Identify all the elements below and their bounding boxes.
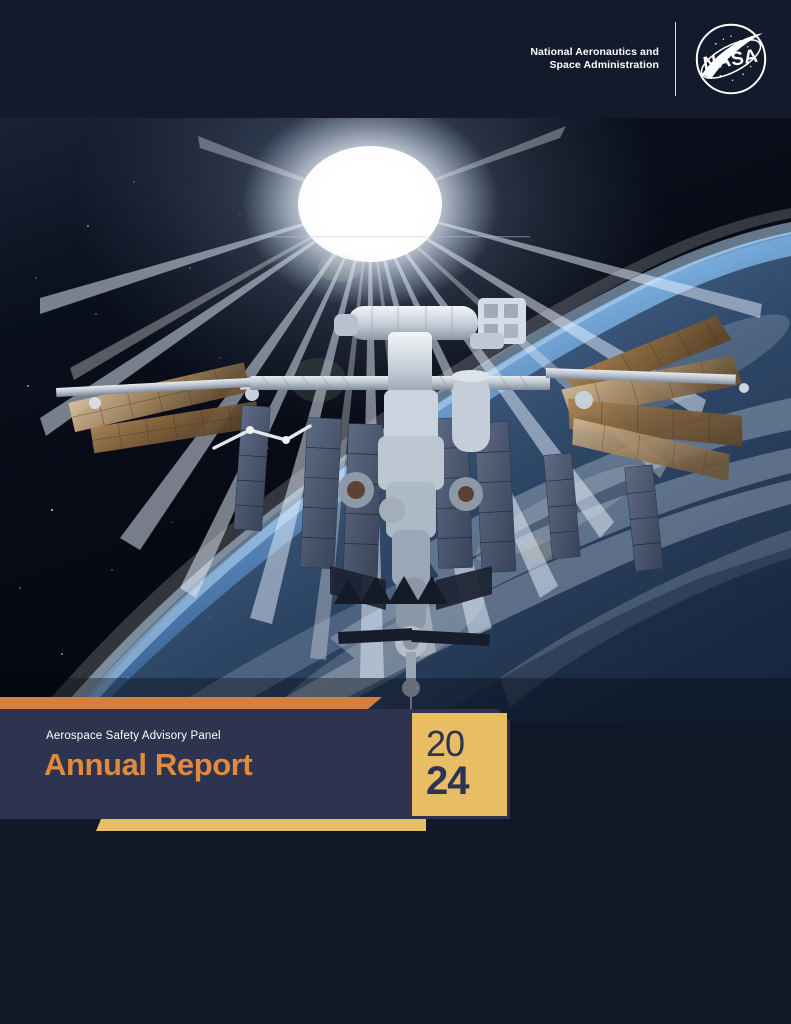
banner-orange-accent bbox=[0, 697, 382, 709]
nasa-wordmark: National Aeronautics and Space Administr… bbox=[530, 46, 675, 72]
header-bar: National Aeronautics and Space Administr… bbox=[0, 0, 791, 118]
panel-name-label: Aerospace Safety Advisory Panel bbox=[46, 730, 221, 742]
year-top: 20 bbox=[426, 726, 464, 762]
nasa-meatball-icon: NASA bbox=[693, 21, 769, 97]
page-title: Annual Report bbox=[44, 747, 252, 783]
title-banner: 20 24 Aerospace Safety Advisory Panel An… bbox=[0, 697, 520, 831]
report-cover-page: National Aeronautics and Space Administr… bbox=[0, 0, 791, 1024]
year-badge: 20 24 bbox=[412, 713, 507, 816]
year-bottom: 24 bbox=[426, 761, 469, 801]
cover-photo bbox=[0, 118, 791, 722]
lockup-divider bbox=[675, 22, 676, 96]
nasa-lockup: National Aeronautics and Space Administr… bbox=[530, 14, 769, 104]
svg-text:NASA: NASA bbox=[702, 46, 760, 75]
